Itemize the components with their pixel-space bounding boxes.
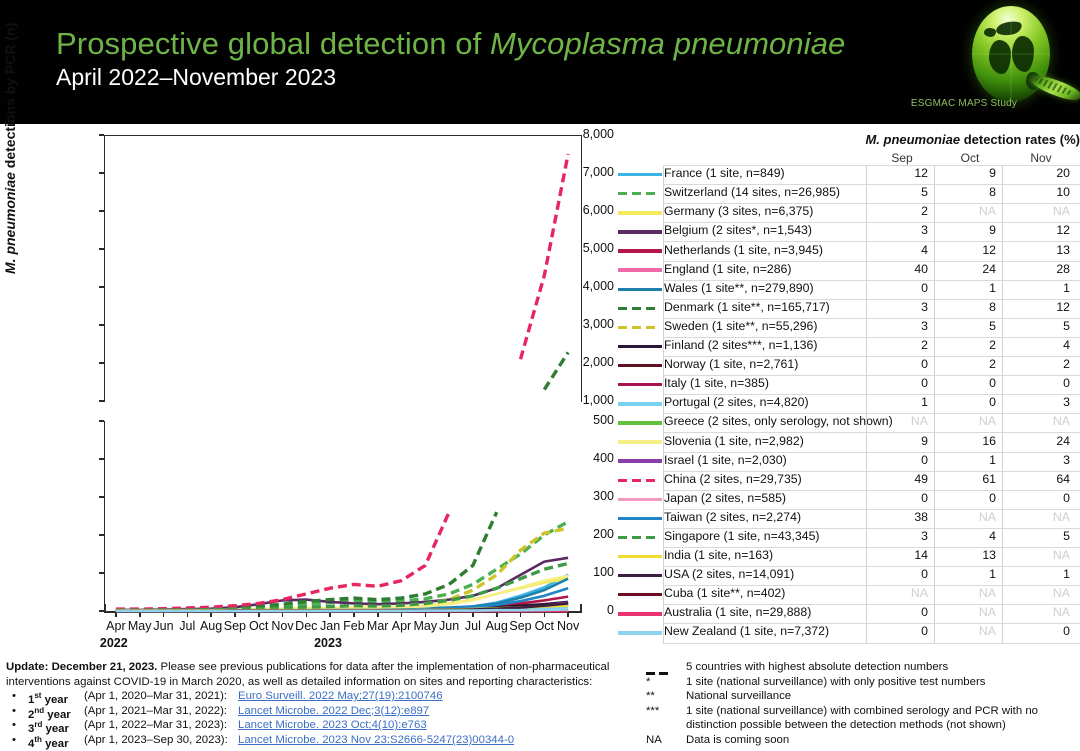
legend-swatch <box>618 555 662 558</box>
table-cell-country: Italy (1 site, n=385) <box>664 376 769 390</box>
table-cell-sep: 0 <box>870 376 928 390</box>
reference-link[interactable]: Lancet Microbe. 2023 Oct;4(10):e763 <box>238 718 427 733</box>
table-cell-country: France (1 site, n=849) <box>664 166 785 180</box>
table-grid-line <box>934 165 935 643</box>
chart-series-paths <box>0 124 614 654</box>
footnote-item: ***1 site (national surveillance) with c… <box>646 704 1076 733</box>
table-cell-nov: 4 <box>1006 338 1070 352</box>
table-row-divider <box>663 623 1080 624</box>
table-row[interactable]: England (1 site, n=286)402428 <box>614 260 1080 279</box>
table-row[interactable]: USA (2 sites, n=14,091)011 <box>614 566 1080 585</box>
table-cell-nov: 12 <box>1006 223 1070 237</box>
table-row-divider <box>663 394 1080 395</box>
table-cell-sep: 0 <box>870 605 928 619</box>
table-cell-nov: NA <box>1006 414 1070 428</box>
reference-range: (Apr 1, 2022–Mar 31, 2023): <box>84 718 227 733</box>
table-cell-country: Singapore (1 site, n=43,345) <box>664 529 820 543</box>
table-cell-sep: 12 <box>870 166 928 180</box>
page-title-prefix: Prospective global detection of <box>56 26 490 61</box>
table-row[interactable]: Denmark (1 site**, n=165,717)3812 <box>614 299 1080 318</box>
series-line-china <box>521 154 569 359</box>
table-cell-nov: 0 <box>1006 491 1070 505</box>
table-cell-oct: NA <box>938 624 996 638</box>
table-cell-sep: 2 <box>870 338 928 352</box>
table-cell-nov: 1 <box>1006 281 1070 295</box>
legend-swatch <box>618 631 662 634</box>
table-cell-oct: NA <box>938 586 996 600</box>
table-row[interactable]: Netherlands (1 site, n=3,945)41213 <box>614 241 1080 260</box>
table-row[interactable]: Finland (2 sites***, n=1,136)224 <box>614 337 1080 356</box>
legend-swatch <box>618 383 662 386</box>
table-cell-sep: 14 <box>870 548 928 562</box>
legend-swatch <box>618 249 662 252</box>
legend-swatch <box>618 364 662 367</box>
table-cell-nov: 0 <box>1006 624 1070 638</box>
table-cell-sep: 9 <box>870 434 928 448</box>
table-cell-sep: 3 <box>870 529 928 543</box>
table-cell-nov: 1 <box>1006 567 1070 581</box>
table-row-divider <box>663 604 1080 605</box>
table-row[interactable]: Taiwan (2 sites, n=2,274)38NANA <box>614 509 1080 528</box>
legend-swatch <box>618 574 662 577</box>
reference-range: (Apr 1, 2020–Mar 31, 2021): <box>84 689 227 704</box>
table-cell-country: USA (2 sites, n=14,091) <box>664 567 794 581</box>
table-cell-sep: 40 <box>870 262 928 276</box>
logo-caption: ESGMAC MAPS Study <box>894 98 1034 109</box>
table-row-divider <box>663 452 1080 453</box>
table-cell-oct: NA <box>938 605 996 619</box>
table-cell-oct: NA <box>938 414 996 428</box>
table-row[interactable]: Italy (1 site, n=385)000 <box>614 375 1080 394</box>
table-cell-oct: 61 <box>938 472 996 486</box>
legend-swatch <box>618 268 662 271</box>
reference-year: 4th year <box>28 733 80 751</box>
table-cell-oct: 0 <box>938 376 996 390</box>
update-paragraph: Update: December 21, 2023. Please see pr… <box>6 660 616 689</box>
table-row-divider <box>663 566 1080 567</box>
table-cell-oct: NA <box>938 510 996 524</box>
footnote-item: *1 site (national surveillance) with onl… <box>646 675 1076 690</box>
table-cell-country: Greece (2 sites, only serology, not show… <box>664 414 893 428</box>
table-cell-oct: 9 <box>938 223 996 237</box>
footnote-text: National surveillance <box>686 690 791 702</box>
table-cell-sep: NA <box>870 586 928 600</box>
table-row-divider <box>663 643 1080 644</box>
table-title: M. pneumoniae detection rates (%) <box>865 132 1080 147</box>
table-cell-nov: 3 <box>1006 395 1070 409</box>
legend-swatch <box>618 459 662 462</box>
table-cell-oct: 1 <box>938 281 996 295</box>
table-row[interactable]: Cuba (1 site**, n=402)NANANA <box>614 585 1080 604</box>
table-cell-country: India (1 site, n=163) <box>664 548 773 562</box>
table-body: France (1 site, n=849)12920Switzerland (… <box>614 165 1080 642</box>
table-cell-nov: 3 <box>1006 453 1070 467</box>
table-cell-sep: 0 <box>870 491 928 505</box>
table-row[interactable]: Sweden (1 site**, n=55,296)355 <box>614 318 1080 337</box>
table-cell-sep: 0 <box>870 453 928 467</box>
table-row-divider <box>663 547 1080 548</box>
legend-swatch <box>618 288 662 291</box>
table-row[interactable]: Israel (1 site, n=2,030)013 <box>614 451 1080 470</box>
footnote-marker: ** <box>646 689 680 704</box>
legend-swatch <box>618 479 662 482</box>
table-cell-country: Cuba (1 site**, n=402) <box>664 586 785 600</box>
table-row-divider <box>663 184 1080 185</box>
legend-swatch <box>618 536 662 539</box>
table-row-divider <box>663 222 1080 223</box>
legend-swatch <box>618 593 662 596</box>
legend-swatch <box>618 402 662 405</box>
table-cell-country: Netherlands (1 site, n=3,945) <box>664 243 823 257</box>
table-cell-nov: 10 <box>1006 185 1070 199</box>
table-cell-oct: 2 <box>938 357 996 371</box>
table-cell-country: Switzerland (14 sites, n=26,985) <box>664 185 840 199</box>
table-cell-sep: 5 <box>870 185 928 199</box>
slide-root: Prospective global detection of Mycoplas… <box>0 0 1080 748</box>
reference-item: •1st year(Apr 1, 2020–Mar 31, 2021):Euro… <box>6 689 616 704</box>
table-cell-sep: 3 <box>870 223 928 237</box>
table-cell-oct: 12 <box>938 243 996 257</box>
table-row[interactable]: Portugal (2 sites, n=4,820)103 <box>614 394 1080 413</box>
table-cell-country: Wales (1 site**, n=279,890) <box>664 281 814 295</box>
footnote-text: 1 site (national surveillance) with comb… <box>686 705 1038 732</box>
table-row[interactable]: Germany (3 sites, n=6,375)2NANA <box>614 203 1080 222</box>
reference-link[interactable]: Lancet Microbe. 2023 Nov 23:S2666-5247(2… <box>238 733 514 748</box>
table-row[interactable]: Australia (1 site, n=29,888)0NANA <box>614 604 1080 623</box>
legend-swatch <box>618 192 662 195</box>
legend-swatch <box>618 230 662 233</box>
table-row-divider <box>663 490 1080 491</box>
table-cell-nov: NA <box>1006 586 1070 600</box>
table-cell-sep: 0 <box>870 624 928 638</box>
table-cell-sep: NA <box>870 414 928 428</box>
table-grid-line <box>663 165 664 643</box>
table-cell-oct: 1 <box>938 567 996 581</box>
table-cell-oct: 8 <box>938 300 996 314</box>
legend-swatch <box>618 345 662 348</box>
table-cell-oct: 13 <box>938 548 996 562</box>
table-cell-nov: NA <box>1006 548 1070 562</box>
table-row[interactable]: Singapore (1 site, n=43,345)345 <box>614 528 1080 547</box>
reference-range: (Apr 1, 2021–Mar 31, 2022): <box>84 704 227 719</box>
table-row[interactable]: China (2 sites, n=29,735)496164 <box>614 471 1080 490</box>
series-line-denmark <box>544 352 568 389</box>
detection-line-chart: M. pneumoniae detections by PCR (n) 0100… <box>0 124 614 654</box>
bullet-icon: • <box>12 718 16 733</box>
table-row-divider <box>663 280 1080 281</box>
footnote-text: Data is coming soon <box>686 734 789 746</box>
table-cell-country: Israel (1 site, n=2,030) <box>664 453 787 467</box>
footnote-item: 5 countries with highest absolute detect… <box>646 660 1076 675</box>
table-row[interactable]: Greece (2 sites, only serology, not show… <box>614 413 1080 432</box>
legend-swatch <box>618 517 662 520</box>
bullet-icon: • <box>12 689 16 704</box>
table-row-divider <box>663 413 1080 414</box>
table-col-header-sep: Sep <box>870 151 934 165</box>
table-cell-sep: 4 <box>870 243 928 257</box>
table-cell-sep: 38 <box>870 510 928 524</box>
table-row-divider <box>663 318 1080 319</box>
table-cell-country: New Zealand (1 site, n=7,372) <box>664 624 829 638</box>
page-title-species: Mycoplasma pneumoniae <box>490 26 845 61</box>
table-cell-sep: 49 <box>870 472 928 486</box>
table-cell-sep: 3 <box>870 300 928 314</box>
table-row-divider <box>663 432 1080 433</box>
table-cell-sep: 0 <box>870 357 928 371</box>
footnote-marker: *** <box>646 704 680 719</box>
table-cell-country: Australia (1 site, n=29,888) <box>664 605 811 619</box>
reference-item: •3rd year(Apr 1, 2022–Mar 31, 2023):Lanc… <box>6 718 616 733</box>
table-cell-nov: 20 <box>1006 166 1070 180</box>
table-row[interactable]: France (1 site, n=849)12920 <box>614 165 1080 184</box>
table-row-divider <box>663 471 1080 472</box>
table-cell-country: Finland (2 sites***, n=1,136) <box>664 338 817 352</box>
legend-swatch <box>618 440 662 443</box>
table-cell-country: Belgium (2 sites*, n=1,543) <box>664 223 812 237</box>
reference-link[interactable]: Lancet Microbe. 2022 Dec;3(12):e897 <box>238 704 429 719</box>
header-banner: Prospective global detection of Mycoplas… <box>0 0 1080 124</box>
table-cell-oct: 24 <box>938 262 996 276</box>
table-cell-nov: 24 <box>1006 434 1070 448</box>
detection-rates-table: M. pneumoniae detection rates (%) SepOct… <box>614 124 1080 654</box>
table-row-divider <box>663 241 1080 242</box>
table-grid-line <box>866 165 867 643</box>
footnote-item: NAData is coming soon <box>646 733 1076 748</box>
table-row[interactable]: Japan (2 sites, n=585)000 <box>614 490 1080 509</box>
table-cell-sep: 1 <box>870 395 928 409</box>
table-cell-country: Japan (2 sites, n=585) <box>664 491 786 505</box>
table-cell-country: Sweden (1 site**, n=55,296) <box>664 319 817 333</box>
footer-left: Update: December 21, 2023. Please see pr… <box>6 660 616 748</box>
table-row[interactable]: Switzerland (14 sites, n=26,985)5810 <box>614 184 1080 203</box>
table-row-divider <box>663 203 1080 204</box>
legend-swatch <box>618 173 662 176</box>
table-row-divider <box>663 356 1080 357</box>
table-cell-oct: 4 <box>938 529 996 543</box>
table-row-divider <box>663 509 1080 510</box>
table-row[interactable]: Wales (1 site**, n=279,890)011 <box>614 280 1080 299</box>
table-cell-country: Slovenia (1 site, n=2,982) <box>664 434 804 448</box>
table-cell-sep: 0 <box>870 281 928 295</box>
table-cell-country: Taiwan (2 sites, n=2,274) <box>664 510 801 524</box>
table-cell-sep: 3 <box>870 319 928 333</box>
reference-item: •2nd year(Apr 1, 2021–Mar 31, 2022):Lanc… <box>6 704 616 719</box>
update-label: Update: December 21, 2023. <box>6 661 157 673</box>
legend-swatch <box>618 498 662 501</box>
bullet-icon: • <box>12 733 16 748</box>
table-cell-oct: 1 <box>938 453 996 467</box>
table-cell-nov: NA <box>1006 204 1070 218</box>
table-cell-nov: 64 <box>1006 472 1070 486</box>
table-cell-oct: 2 <box>938 338 996 352</box>
table-row[interactable]: New Zealand (1 site, n=7,372)0NA0 <box>614 623 1080 642</box>
table-row-divider <box>663 299 1080 300</box>
legend-swatch <box>618 326 662 329</box>
reference-link[interactable]: Euro Surveill. 2022 May;27(19):2100746 <box>238 689 443 704</box>
table-row-divider <box>663 337 1080 338</box>
footnote-item: **National surveillance <box>646 689 1076 704</box>
table-cell-nov: NA <box>1006 605 1070 619</box>
table-row[interactable]: Slovenia (1 site, n=2,982)91624 <box>614 432 1080 451</box>
reference-range: (Apr 1, 2023–Sep 30, 2023): <box>84 733 228 748</box>
legend-notes: 5 countries with highest absolute detect… <box>646 660 1076 748</box>
footnote-marker: * <box>646 675 680 690</box>
table-cell-oct: 0 <box>938 491 996 505</box>
footer-right: 5 countries with highest absolute detect… <box>646 660 1076 748</box>
table-cell-nov: 28 <box>1006 262 1070 276</box>
series-line-new-zealand <box>116 610 568 612</box>
table-cell-nov: 2 <box>1006 357 1070 371</box>
series-line-china <box>116 512 449 609</box>
table-cell-nov: 5 <box>1006 319 1070 333</box>
table-cell-country: China (2 sites, n=29,735) <box>664 472 802 486</box>
table-cell-nov: NA <box>1006 510 1070 524</box>
table-cell-nov: 0 <box>1006 376 1070 390</box>
reference-list: •1st year(Apr 1, 2020–Mar 31, 2021):Euro… <box>6 689 616 747</box>
table-col-header-nov: Nov <box>1006 151 1076 165</box>
table-row[interactable]: Norway (1 site, n=2,761)022 <box>614 356 1080 375</box>
reference-item: •4th year(Apr 1, 2023–Sep 30, 2023):Lanc… <box>6 733 616 748</box>
table-cell-oct: 16 <box>938 434 996 448</box>
table-cell-country: Germany (3 sites, n=6,375) <box>664 204 813 218</box>
table-col-header-oct: Oct <box>938 151 1002 165</box>
table-row-divider <box>663 528 1080 529</box>
legend-swatch <box>618 211 662 214</box>
table-cell-country: Denmark (1 site**, n=165,717) <box>664 300 830 314</box>
bullet-icon: • <box>12 704 16 719</box>
table-cell-sep: 0 <box>870 567 928 581</box>
table-cell-oct: NA <box>938 204 996 218</box>
table-cell-oct: 5 <box>938 319 996 333</box>
footnote-text: 5 countries with highest absolute detect… <box>686 661 948 673</box>
table-row-divider <box>663 165 1080 166</box>
page-subtitle: April 2022–November 2023 <box>56 64 336 91</box>
series-line-switzerland <box>116 522 568 610</box>
table-cell-nov: 13 <box>1006 243 1070 257</box>
table-cell-nov: 12 <box>1006 300 1070 314</box>
table-cell-oct: 0 <box>938 395 996 409</box>
table-cell-nov: 5 <box>1006 529 1070 543</box>
footnote-text: 1 site (national surveillance) with only… <box>686 676 985 688</box>
study-logo: ESGMAC MAPS Study <box>924 2 1074 124</box>
table-cell-country: Norway (1 site, n=2,761) <box>664 357 798 371</box>
table-row-divider <box>663 261 1080 262</box>
table-grid-line <box>1002 165 1003 643</box>
table-cell-country: England (1 site, n=286) <box>664 262 792 276</box>
table-cell-sep: 2 <box>870 204 928 218</box>
table-row[interactable]: India (1 site, n=163)1413NA <box>614 547 1080 566</box>
footnote-marker: NA <box>646 733 680 748</box>
table-row-divider <box>663 585 1080 586</box>
page-title: Prospective global detection of Mycoplas… <box>56 26 845 62</box>
table-cell-oct: 9 <box>938 166 996 180</box>
table-cell-country: Portugal (2 sites, n=4,820) <box>664 395 809 409</box>
table-row[interactable]: Belgium (2 sites*, n=1,543)3912 <box>614 222 1080 241</box>
footer: Update: December 21, 2023. Please see pr… <box>0 654 1080 748</box>
table-cell-oct: 8 <box>938 185 996 199</box>
legend-swatch <box>618 612 662 615</box>
table-row-divider <box>663 375 1080 376</box>
legend-swatch <box>618 421 662 424</box>
legend-swatch <box>618 307 662 310</box>
